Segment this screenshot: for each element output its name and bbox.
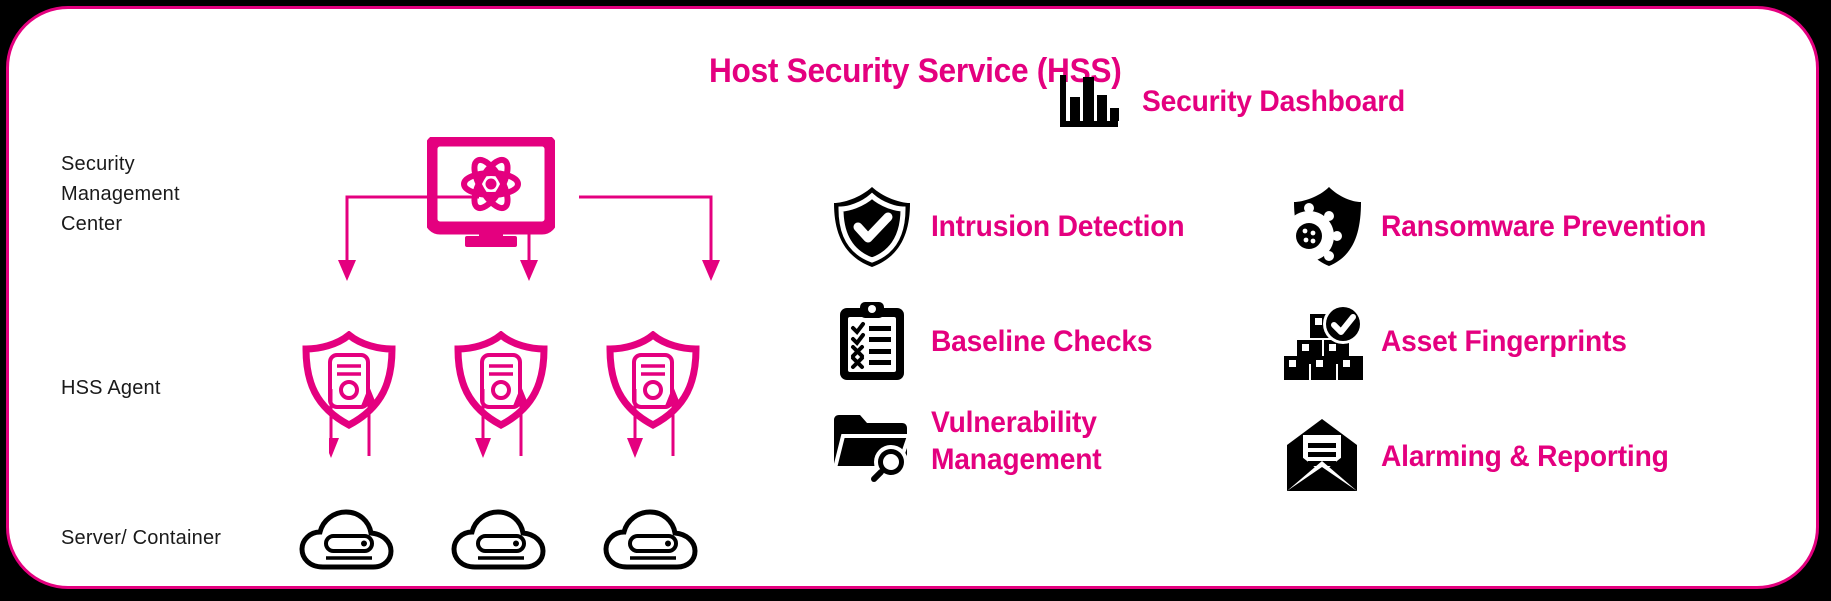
feature-intrusion-detection: Intrusion Detection xyxy=(829,183,1201,269)
shield-server-icon xyxy=(449,331,553,429)
cloud-server-icon xyxy=(299,509,399,571)
bar-chart-icon xyxy=(1054,65,1126,137)
feature-ransomware-prevention: Ransomware Prevention xyxy=(1279,183,1727,269)
shield-virus-icon xyxy=(1279,183,1365,269)
feature-label: Security Dashboard xyxy=(1142,83,1405,120)
hss-overview-card: Host Security Service (HSS) Security Man… xyxy=(6,6,1819,589)
shield-check-icon xyxy=(829,183,915,269)
feature-label: Ransomware Prevention xyxy=(1381,208,1706,245)
row-label-server-container: Server/ Container xyxy=(61,523,221,553)
monitor-atom-icon xyxy=(427,137,555,249)
feature-alarming-reporting: Alarming & Reporting xyxy=(1279,413,1687,499)
cloud-server-icon xyxy=(451,509,551,571)
row-label-security-management-center: Security Management Center xyxy=(61,149,180,239)
feature-label: Intrusion Detection xyxy=(931,208,1184,245)
shield-server-icon xyxy=(297,331,401,429)
row-label-hss-agent: HSS Agent xyxy=(61,373,161,403)
folder-search-icon xyxy=(829,398,915,484)
feature-label: Asset Fingerprints xyxy=(1381,323,1627,360)
cloud-server-icon xyxy=(603,509,703,571)
shield-server-icon xyxy=(601,331,705,429)
clipboard-checklist-icon xyxy=(829,298,915,384)
diagram-canvas: Host Security Service (HSS) Security Man… xyxy=(0,0,1831,601)
feature-asset-fingerprints: Asset Fingerprints xyxy=(1279,298,1642,384)
feature-label: Alarming & Reporting xyxy=(1381,438,1669,475)
feature-label: Baseline Checks xyxy=(931,323,1152,360)
feature-label: Vulnerability Management xyxy=(931,404,1101,478)
boxes-check-icon xyxy=(1279,298,1365,384)
feature-security-dashboard: Security Dashboard xyxy=(1054,65,1422,137)
open-envelope-icon xyxy=(1279,413,1365,499)
feature-baseline-checks: Baseline Checks xyxy=(829,298,1166,384)
feature-vulnerability-management: Vulnerability Management xyxy=(829,398,1112,484)
